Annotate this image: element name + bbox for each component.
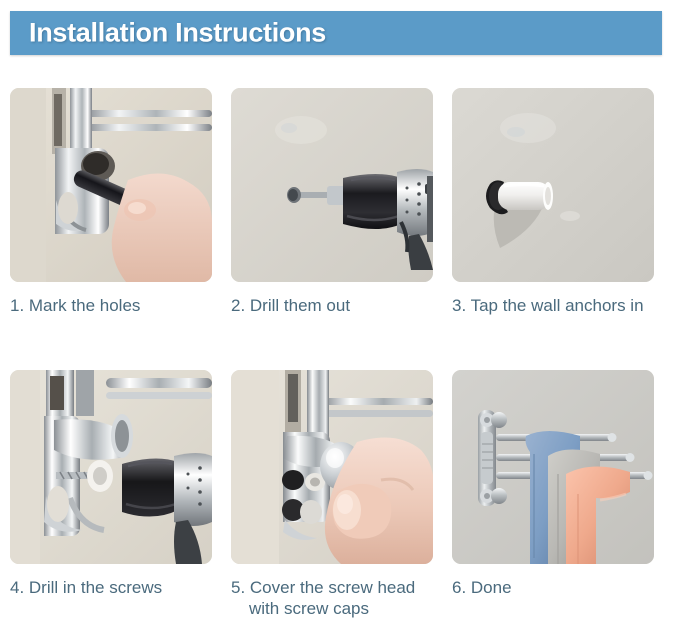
photo-mark-the-holes	[10, 88, 212, 282]
step-2: 2. Drill them out	[231, 88, 433, 316]
photo-done	[452, 370, 654, 564]
photo-drill-them-out	[231, 88, 433, 282]
row-spacer	[10, 316, 662, 370]
step-1-caption: 1. Mark the holes	[10, 295, 212, 316]
step-6-caption: 6. Done	[452, 577, 654, 598]
step-4: 4. Drill in the screws	[10, 370, 212, 619]
step-5-caption: 5. Cover the screw headwith screw caps	[231, 577, 433, 619]
photo-cover-the-screw-head	[231, 370, 433, 564]
steps-row-2: 4. Drill in the screws	[10, 370, 662, 619]
step-4-caption: 4. Drill in the screws	[10, 577, 212, 598]
header-banner: Installation Instructions	[10, 11, 662, 55]
step-5: 5. Cover the screw headwith screw caps	[231, 370, 433, 619]
step-1: 1. Mark the holes	[10, 88, 212, 316]
step-3-caption: 3. Tap the wall anchors in	[452, 295, 654, 316]
steps-grid: 1. Mark the holes	[10, 88, 662, 619]
step-5-caption-line2: with screw caps	[231, 598, 433, 619]
steps-row-1: 1. Mark the holes	[10, 88, 662, 316]
page-title: Installation Instructions	[29, 18, 326, 49]
photo-drill-in-the-screws	[10, 370, 212, 564]
step-2-caption: 2. Drill them out	[231, 295, 433, 316]
photo-tap-the-wall-anchors-in	[452, 88, 654, 282]
step-6: 6. Done	[452, 370, 654, 619]
step-3: 3. Tap the wall anchors in	[452, 88, 654, 316]
step-5-caption-line1: 5. Cover the screw head	[231, 578, 415, 597]
